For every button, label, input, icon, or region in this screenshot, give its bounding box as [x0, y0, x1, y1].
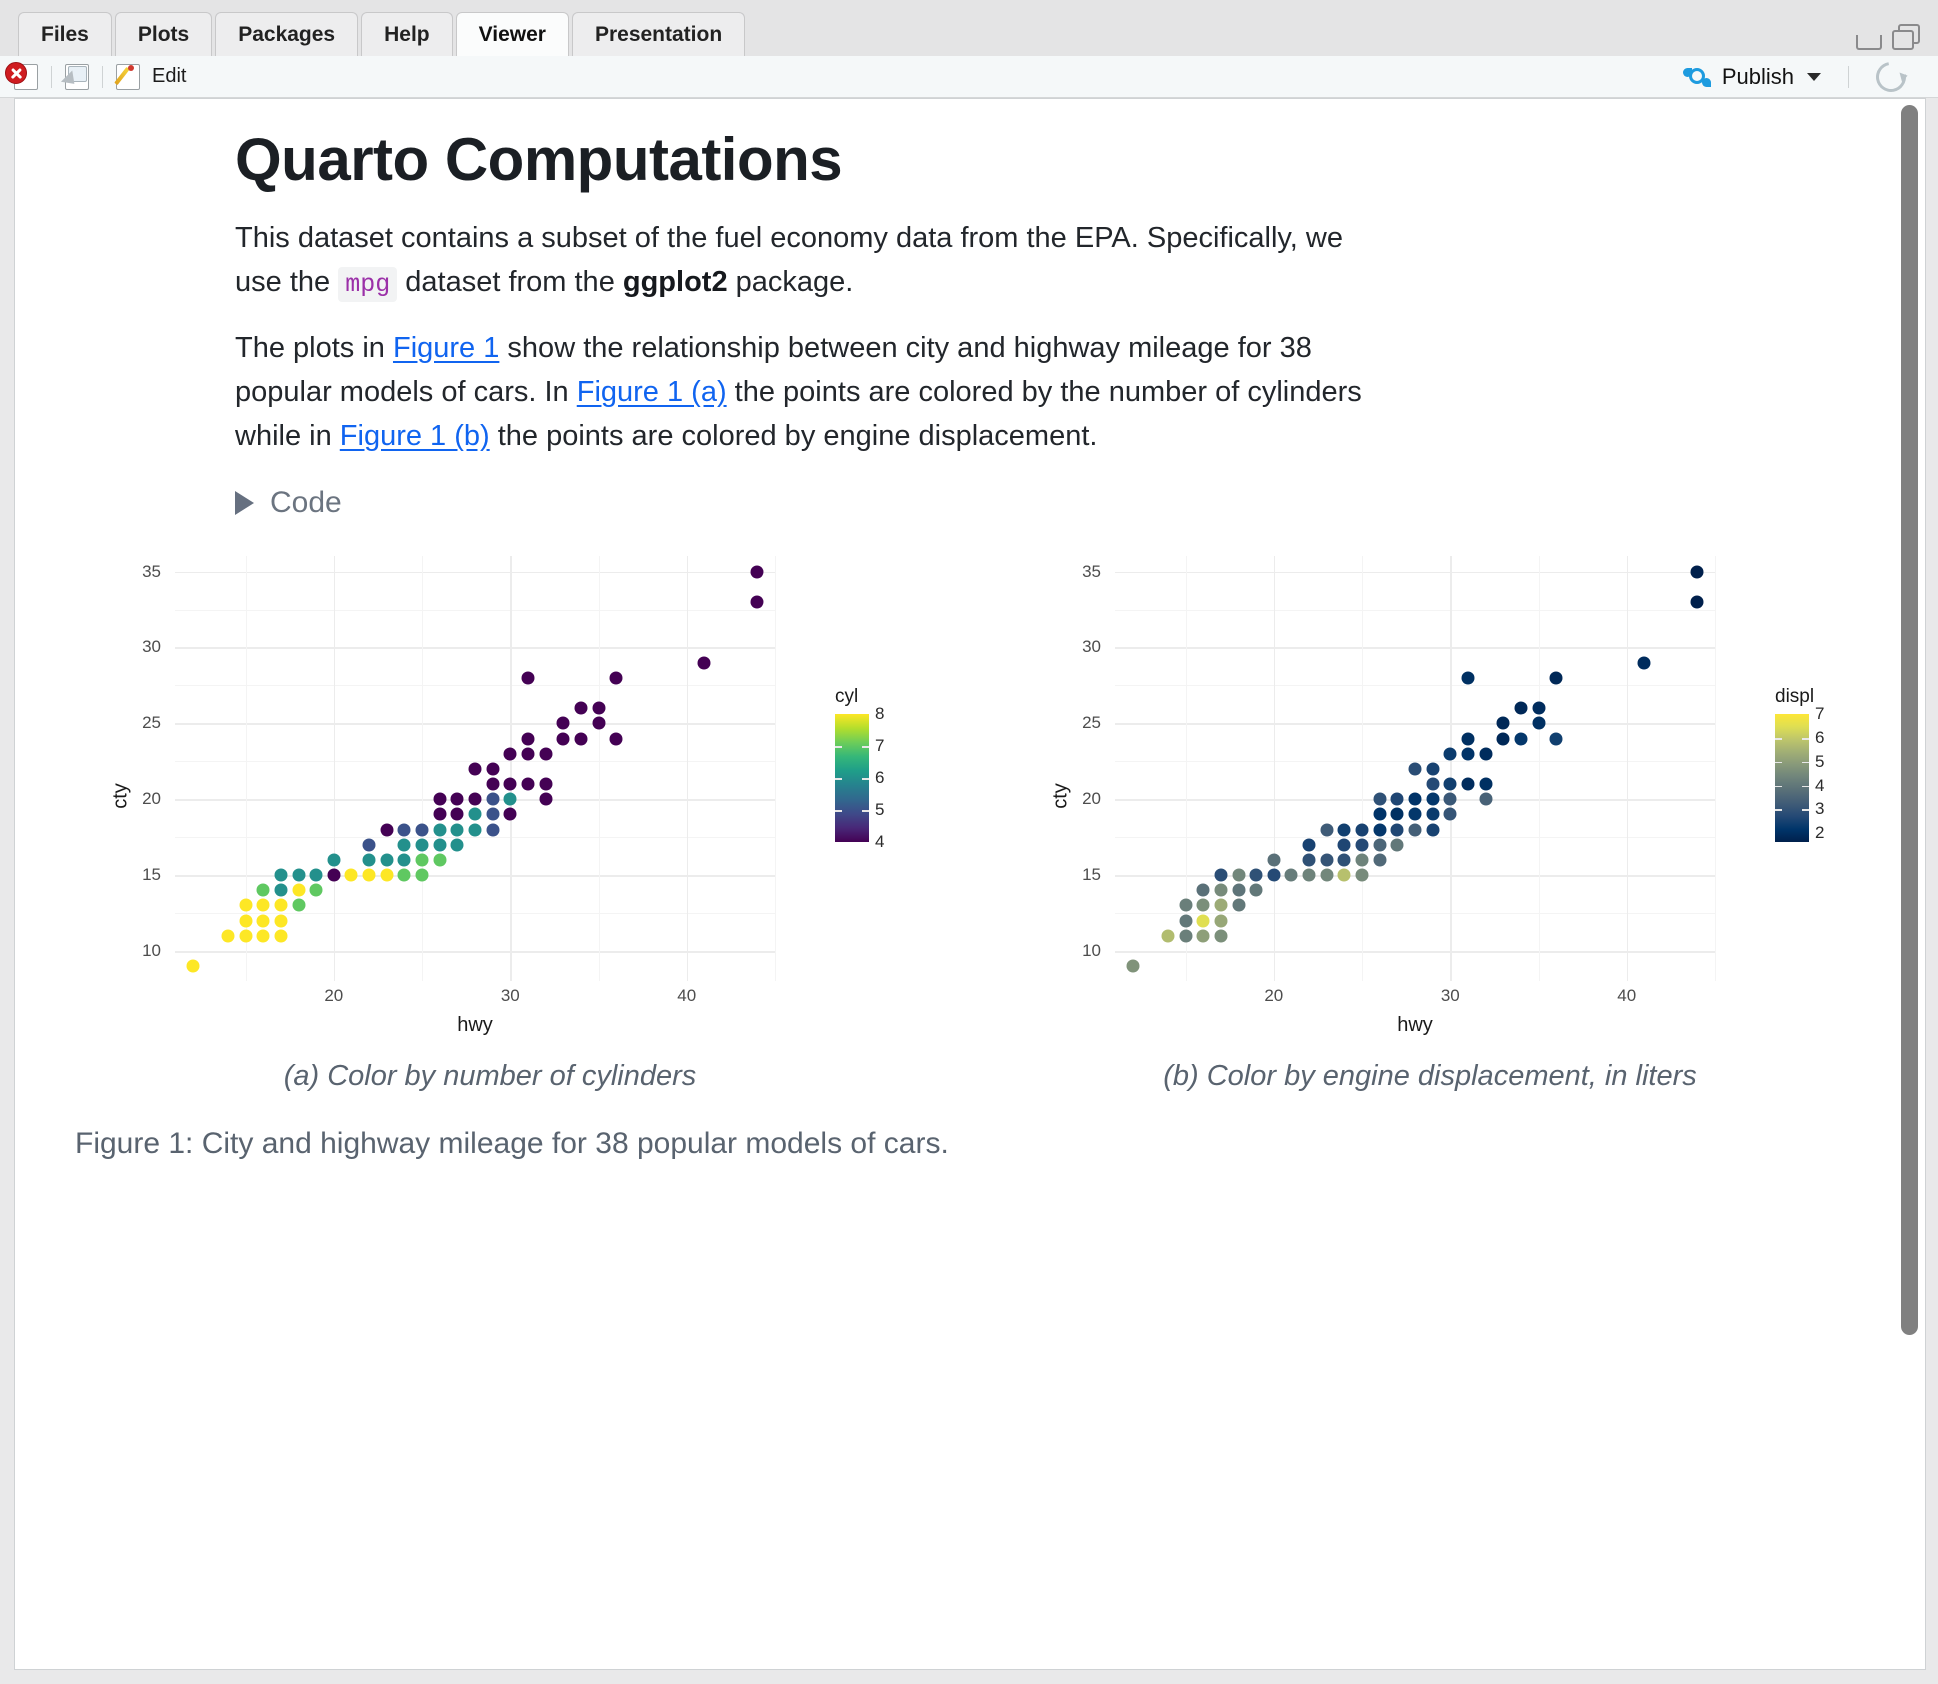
figure-caption: Figure 1: City and highway mileage for 3…	[75, 1127, 1875, 1161]
gridline-major-vertical	[334, 556, 336, 981]
scatter-point	[1444, 778, 1457, 791]
y-axis-tick-label: 20	[1082, 789, 1101, 809]
scatter-point	[257, 914, 270, 927]
scatter-point	[1514, 732, 1527, 745]
scatter-point	[592, 702, 605, 715]
scatter-point	[310, 869, 323, 882]
legend-tick-mark	[1775, 809, 1782, 811]
scatter-point	[469, 762, 482, 775]
chevron-down-icon[interactable]	[1807, 73, 1821, 81]
maximize-icon[interactable]	[1892, 24, 1920, 50]
scatter-point	[1461, 671, 1474, 684]
scatter-point	[1232, 899, 1245, 912]
subcaption-a: (a) Color by number of cylinders	[50, 1060, 930, 1093]
publish-button[interactable]: Publish	[1683, 64, 1821, 90]
legend-tick-label: 4	[1815, 776, 1824, 796]
x-axis-label: hwy	[1115, 1014, 1715, 1037]
scatter-point	[416, 869, 429, 882]
y-axis-tick-label: 30	[1082, 637, 1101, 657]
x-axis-tick-label: 40	[677, 986, 696, 1006]
scatter-point	[1409, 762, 1422, 775]
scatter-point	[451, 808, 464, 821]
legend-tick-mark	[1775, 786, 1782, 788]
scatter-point	[574, 732, 587, 745]
refresh-icon[interactable]	[1870, 56, 1912, 98]
legend-tick-label: 7	[1815, 704, 1824, 724]
scatter-point	[521, 732, 534, 745]
paragraph-dataset-description: This dataset contains a subset of the fu…	[15, 194, 1375, 304]
window-controls	[1856, 24, 1920, 50]
gridline-minor-vertical	[775, 556, 776, 981]
disclosure-triangle-right-icon	[235, 491, 254, 515]
scatter-point	[1161, 929, 1174, 942]
scatter-point	[1356, 869, 1369, 882]
scatter-point	[557, 732, 570, 745]
scatter-point	[1356, 838, 1369, 851]
scatter-point	[1497, 732, 1510, 745]
bold-ggplot2: ggplot2	[623, 266, 728, 298]
legend-tick-label: 3	[1815, 799, 1824, 819]
scatter-point	[327, 853, 340, 866]
y-axis-tick-label: 15	[1082, 865, 1101, 885]
gridline-minor-horizontal	[175, 837, 775, 838]
scatter-point	[1126, 960, 1139, 973]
tab-plots[interactable]: Plots	[115, 12, 212, 56]
tab-help[interactable]: Help	[361, 12, 453, 56]
legend-tick-mark	[862, 810, 869, 812]
scatter-point	[1197, 884, 1210, 897]
scatter-point	[433, 853, 446, 866]
scatter-point	[274, 929, 287, 942]
scatter-point	[327, 869, 340, 882]
scatter-point	[486, 808, 499, 821]
scatter-point	[1214, 899, 1227, 912]
page-title: Quarto Computations	[15, 99, 1875, 194]
scatter-point	[1373, 823, 1386, 836]
subcaption-b: (b) Color by engine displacement, in lit…	[990, 1060, 1870, 1093]
minimize-icon[interactable]	[1856, 35, 1882, 50]
gridline-minor-horizontal	[175, 685, 775, 686]
scatter-point	[1303, 853, 1316, 866]
para2-part4: the points are colored by engine displac…	[490, 420, 1098, 452]
x-axis-tick-label: 40	[1617, 986, 1636, 1006]
scatter-point	[239, 929, 252, 942]
legend-tick-mark	[835, 778, 842, 780]
y-axis-label: cty	[1049, 784, 1072, 810]
scatter-point	[1373, 838, 1386, 851]
stop-rendering-icon[interactable]	[14, 64, 38, 90]
scatter-point	[274, 914, 287, 927]
scatter-point	[292, 899, 305, 912]
scatter-plot-cyl: 101520253035203040ctyhwycyl45678	[50, 546, 930, 1046]
legend-tick-mark	[862, 746, 869, 748]
scatter-point	[416, 838, 429, 851]
gridline-major-horizontal	[175, 647, 775, 649]
scatter-point	[1426, 762, 1439, 775]
scatter-point	[539, 778, 552, 791]
publish-label: Publish	[1722, 64, 1794, 90]
scatter-point	[1426, 778, 1439, 791]
scatter-point	[292, 869, 305, 882]
scatter-point	[257, 929, 270, 942]
figure-row: 101520253035203040ctyhwycyl45678 1015202…	[15, 546, 1875, 1046]
scatter-point	[416, 823, 429, 836]
scatter-point	[1479, 747, 1492, 760]
gridline-minor-horizontal	[175, 610, 775, 611]
scatter-point	[610, 671, 623, 684]
scatter-point	[1214, 914, 1227, 927]
scatter-point	[1391, 838, 1404, 851]
scatter-point	[469, 823, 482, 836]
scatter-point	[1550, 732, 1563, 745]
gridline-major-horizontal	[1115, 647, 1715, 649]
scatter-point	[274, 869, 287, 882]
legend-title: displ	[1775, 686, 1814, 708]
scatter-point	[433, 838, 446, 851]
scatter-point	[363, 838, 376, 851]
rstudio-viewer-window: Files Plots Packages Help Viewer Present…	[0, 0, 1938, 1684]
viewer-scrollbar-thumb[interactable]	[1901, 105, 1918, 1335]
scatter-point	[751, 565, 764, 578]
y-axis-label: cty	[109, 784, 132, 810]
link-figure-1-b[interactable]: Figure 1 (b)	[340, 420, 490, 452]
toolbar-divider-3	[1848, 66, 1849, 88]
gridline-major-horizontal	[1115, 875, 1715, 877]
figure-panel-a: 101520253035203040ctyhwycyl45678	[50, 546, 930, 1046]
scatter-point	[1444, 747, 1457, 760]
scatter-point	[1514, 702, 1527, 715]
scatter-point	[521, 778, 534, 791]
scatter-point	[1532, 702, 1545, 715]
x-axis-tick-label: 30	[1441, 986, 1460, 1006]
scatter-point	[1320, 869, 1333, 882]
scatter-point	[433, 823, 446, 836]
x-axis-tick-label: 20	[1264, 986, 1283, 1006]
viewer-toolbar: Edit Publish	[0, 56, 1938, 98]
scatter-point	[1197, 914, 1210, 927]
scatter-point	[486, 823, 499, 836]
colorbar-legend: cyl45678	[835, 686, 869, 842]
tab-viewer[interactable]: Viewer	[456, 12, 569, 56]
paragraph-figure-description: The plots in Figure 1 show the relations…	[15, 304, 1375, 458]
scatter-plot-displ: 101520253035203040ctyhwydispl234567	[990, 546, 1870, 1046]
colorbar-gradient: 234567	[1775, 714, 1809, 842]
viewer-content-pane: Quarto Computations This dataset contain…	[14, 98, 1926, 1670]
scatter-point	[1303, 838, 1316, 851]
scatter-point	[292, 884, 305, 897]
scatter-point	[521, 671, 534, 684]
scatter-point	[1409, 823, 1422, 836]
colorbar-gradient: 45678	[835, 714, 869, 842]
scatter-point	[239, 914, 252, 927]
para1-part3: package.	[728, 266, 854, 298]
y-axis-tick-label: 35	[142, 562, 161, 582]
gridline-minor-vertical	[422, 556, 423, 981]
scatter-point	[274, 899, 287, 912]
scatter-point	[451, 793, 464, 806]
scatter-point	[1409, 793, 1422, 806]
legend-tick-label: 5	[1815, 752, 1824, 772]
scatter-point	[1444, 808, 1457, 821]
scatter-point	[751, 595, 764, 608]
scatter-point	[486, 793, 499, 806]
y-axis-tick-label: 15	[142, 865, 161, 885]
scatter-point	[1338, 869, 1351, 882]
legend-tick-label: 2	[1815, 823, 1824, 843]
gridline-major-horizontal	[175, 572, 775, 574]
scatter-point	[1373, 808, 1386, 821]
scatter-point	[1373, 853, 1386, 866]
legend-tick-mark	[862, 778, 869, 780]
legend-tick-label: 8	[875, 704, 884, 724]
colorbar-legend: displ234567	[1775, 686, 1814, 842]
scatter-point	[1479, 778, 1492, 791]
legend-tick-mark	[1775, 762, 1782, 764]
gridline-minor-horizontal	[1115, 685, 1715, 686]
scatter-point	[574, 702, 587, 715]
scatter-point	[1391, 808, 1404, 821]
toolbar-divider-1	[51, 66, 52, 88]
legend-tick-label: 6	[1815, 728, 1824, 748]
scatter-point	[1532, 717, 1545, 730]
gridline-major-horizontal	[175, 951, 775, 953]
scatter-point	[1179, 899, 1192, 912]
scatter-point	[1338, 838, 1351, 851]
edit-pencil-icon[interactable]	[116, 64, 140, 90]
x-axis-tick-label: 30	[501, 986, 520, 1006]
legend-tick-mark	[1802, 738, 1809, 740]
scatter-point	[363, 869, 376, 882]
scatter-point	[1250, 869, 1263, 882]
para1-part2: dataset from the	[397, 266, 623, 298]
scatter-point	[451, 838, 464, 851]
gridline-major-vertical	[510, 556, 512, 981]
code-mpg: mpg	[338, 267, 397, 302]
link-figure-1[interactable]: Figure 1	[393, 332, 499, 364]
legend-tick-mark	[835, 746, 842, 748]
y-axis-tick-label: 10	[1082, 941, 1101, 961]
scatter-point	[1338, 823, 1351, 836]
scatter-point	[486, 778, 499, 791]
scatter-point	[257, 884, 270, 897]
gridline-major-vertical	[1274, 556, 1276, 981]
scatter-point	[1232, 869, 1245, 882]
legend-tick-label: 7	[875, 736, 884, 756]
scatter-point	[504, 747, 517, 760]
legend-title: cyl	[835, 686, 869, 708]
y-axis-tick-label: 30	[142, 637, 161, 657]
scatter-point	[1285, 869, 1298, 882]
scatter-point	[451, 823, 464, 836]
gridline-major-horizontal	[1115, 723, 1715, 725]
subcaption-row: (a) Color by number of cylinders (b) Col…	[15, 1046, 1875, 1093]
scatter-point	[610, 732, 623, 745]
gridline-minor-horizontal	[1115, 837, 1715, 838]
scatter-point	[1391, 793, 1404, 806]
pane-tab-bar: Files Plots Packages Help Viewer Present…	[0, 0, 1938, 56]
legend-tick-mark	[835, 810, 842, 812]
legend-tick-label: 5	[875, 800, 884, 820]
scatter-point	[398, 853, 411, 866]
scatter-point	[1250, 884, 1263, 897]
gridline-minor-vertical	[1715, 556, 1716, 981]
scatter-point	[433, 793, 446, 806]
scatter-point	[1426, 808, 1439, 821]
tab-packages[interactable]: Packages	[215, 12, 358, 56]
scatter-point	[469, 793, 482, 806]
gridline-major-vertical	[687, 556, 689, 981]
show-in-new-window-icon[interactable]	[65, 64, 89, 90]
scatter-point	[380, 853, 393, 866]
scatter-point	[1409, 808, 1422, 821]
gridline-minor-horizontal	[1115, 610, 1715, 611]
scatter-point	[1550, 671, 1563, 684]
scatter-point	[1638, 656, 1651, 669]
code-disclosure-toggle[interactable]: Code	[235, 486, 342, 520]
scatter-point	[1391, 823, 1404, 836]
plot-axes-area	[1115, 556, 1715, 981]
scatter-point	[1356, 853, 1369, 866]
toolbar-divider-2	[102, 66, 103, 88]
scatter-point	[1461, 732, 1474, 745]
publish-icon	[1683, 66, 1711, 88]
x-axis-tick-label: 20	[324, 986, 343, 1006]
scatter-point	[1214, 869, 1227, 882]
scatter-point	[698, 656, 711, 669]
legend-tick-mark	[1802, 762, 1809, 764]
scatter-point	[1691, 595, 1704, 608]
scatter-point	[1267, 853, 1280, 866]
scatter-point	[504, 793, 517, 806]
scatter-point	[1197, 929, 1210, 942]
legend-tick-mark	[1775, 738, 1782, 740]
scatter-point	[1373, 793, 1386, 806]
scatter-point	[1461, 778, 1474, 791]
y-axis-tick-label: 35	[1082, 562, 1101, 582]
gridline-minor-vertical	[1539, 556, 1540, 981]
legend-tick-label: 6	[875, 768, 884, 788]
scatter-point	[380, 869, 393, 882]
scatter-point	[539, 793, 552, 806]
para2-part1: The plots in	[235, 332, 393, 364]
gridline-minor-vertical	[599, 556, 600, 981]
scatter-point	[486, 762, 499, 775]
scatter-point	[469, 808, 482, 821]
scatter-point	[504, 778, 517, 791]
scatter-point	[345, 869, 358, 882]
scatter-point	[1320, 853, 1333, 866]
scatter-point	[1426, 793, 1439, 806]
scatter-point	[539, 747, 552, 760]
scatter-point	[416, 853, 429, 866]
tab-presentation[interactable]: Presentation	[572, 12, 745, 56]
legend-tick-mark	[1802, 809, 1809, 811]
scatter-point	[1303, 869, 1316, 882]
scatter-point	[1267, 869, 1280, 882]
scatter-point	[398, 823, 411, 836]
scatter-point	[1461, 747, 1474, 760]
scatter-point	[1426, 823, 1439, 836]
viewer-scrollbar-track[interactable]	[1895, 99, 1925, 1669]
y-axis-tick-label: 10	[142, 941, 161, 961]
scatter-point	[1214, 884, 1227, 897]
scatter-point	[1356, 823, 1369, 836]
legend-tick-mark	[1802, 786, 1809, 788]
scatter-point	[521, 747, 534, 760]
scatter-point	[398, 869, 411, 882]
gridline-major-horizontal	[175, 875, 775, 877]
scatter-point	[433, 808, 446, 821]
quarto-document: Quarto Computations This dataset contain…	[15, 99, 1875, 1161]
scatter-point	[504, 808, 517, 821]
x-axis-label: hwy	[175, 1014, 775, 1037]
gridline-major-vertical	[1450, 556, 1452, 981]
link-figure-1-a[interactable]: Figure 1 (a)	[577, 376, 727, 408]
gridline-major-horizontal	[1115, 572, 1715, 574]
plot-axes-area	[175, 556, 775, 981]
scatter-point	[1179, 914, 1192, 927]
figure-panel-b: 101520253035203040ctyhwydispl234567	[990, 546, 1870, 1046]
code-toggle-label: Code	[270, 486, 342, 520]
scatter-point	[186, 960, 199, 973]
scatter-point	[257, 899, 270, 912]
scatter-point	[363, 853, 376, 866]
edit-button-label[interactable]: Edit	[152, 65, 186, 88]
scatter-point	[1338, 853, 1351, 866]
scatter-point	[1497, 717, 1510, 730]
scatter-point	[380, 823, 393, 836]
y-axis-tick-label: 20	[142, 789, 161, 809]
y-axis-tick-label: 25	[142, 713, 161, 733]
gridline-minor-vertical	[1362, 556, 1363, 981]
scatter-point	[1179, 929, 1192, 942]
scatter-point	[398, 838, 411, 851]
scatter-point	[1479, 793, 1492, 806]
scatter-point	[239, 899, 252, 912]
scatter-point	[1691, 565, 1704, 578]
scatter-point	[1214, 929, 1227, 942]
scatter-point	[310, 884, 323, 897]
scatter-point	[1232, 884, 1245, 897]
scatter-point	[1197, 899, 1210, 912]
legend-tick-label: 4	[875, 832, 884, 852]
tab-files[interactable]: Files	[18, 12, 112, 56]
scatter-point	[274, 884, 287, 897]
gridline-major-vertical	[1627, 556, 1629, 981]
y-axis-tick-label: 25	[1082, 713, 1101, 733]
scatter-point	[592, 717, 605, 730]
scatter-point	[1444, 793, 1457, 806]
scatter-point	[557, 717, 570, 730]
gridline-major-horizontal	[1115, 951, 1715, 953]
gridline-major-horizontal	[175, 723, 775, 725]
scatter-point	[1320, 823, 1333, 836]
scatter-point	[221, 929, 234, 942]
